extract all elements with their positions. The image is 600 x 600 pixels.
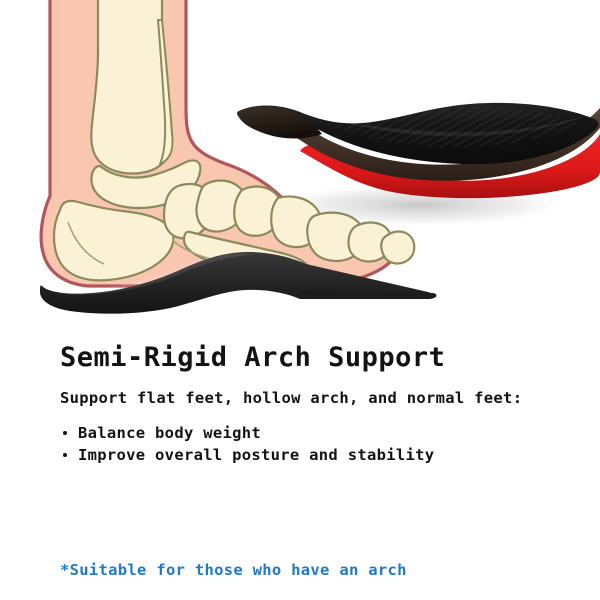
footnote-line-1: *Suitable for those who have an arch [60,559,407,581]
benefit-list: Balance body weight Improve overall post… [60,422,434,466]
foot-anatomy-illustration [0,0,600,330]
product-text-block: Semi-Rigid Arch Support Support flat fee… [0,330,600,600]
list-item-label: Improve overall posture and stability [78,446,434,464]
list-item: Balance body weight [60,422,434,444]
list-item: Improve overall posture and stability [60,444,434,466]
bullet-dot-icon [63,431,67,435]
insole-3d-toe-flare [237,106,322,139]
insole-3d-render [237,103,600,198]
list-item-label: Balance body weight [78,424,261,442]
product-info-card: Semi-Rigid Arch Support Support flat fee… [0,0,600,600]
page-title: Semi-Rigid Arch Support [60,342,445,373]
subtitle: Support flat feet, hollow arch, and norm… [60,389,522,407]
bullet-dot-icon [63,453,67,457]
footnote: *Suitable for those who have an arch hei… [60,515,407,600]
bone-phalanx-3 [381,232,414,264]
